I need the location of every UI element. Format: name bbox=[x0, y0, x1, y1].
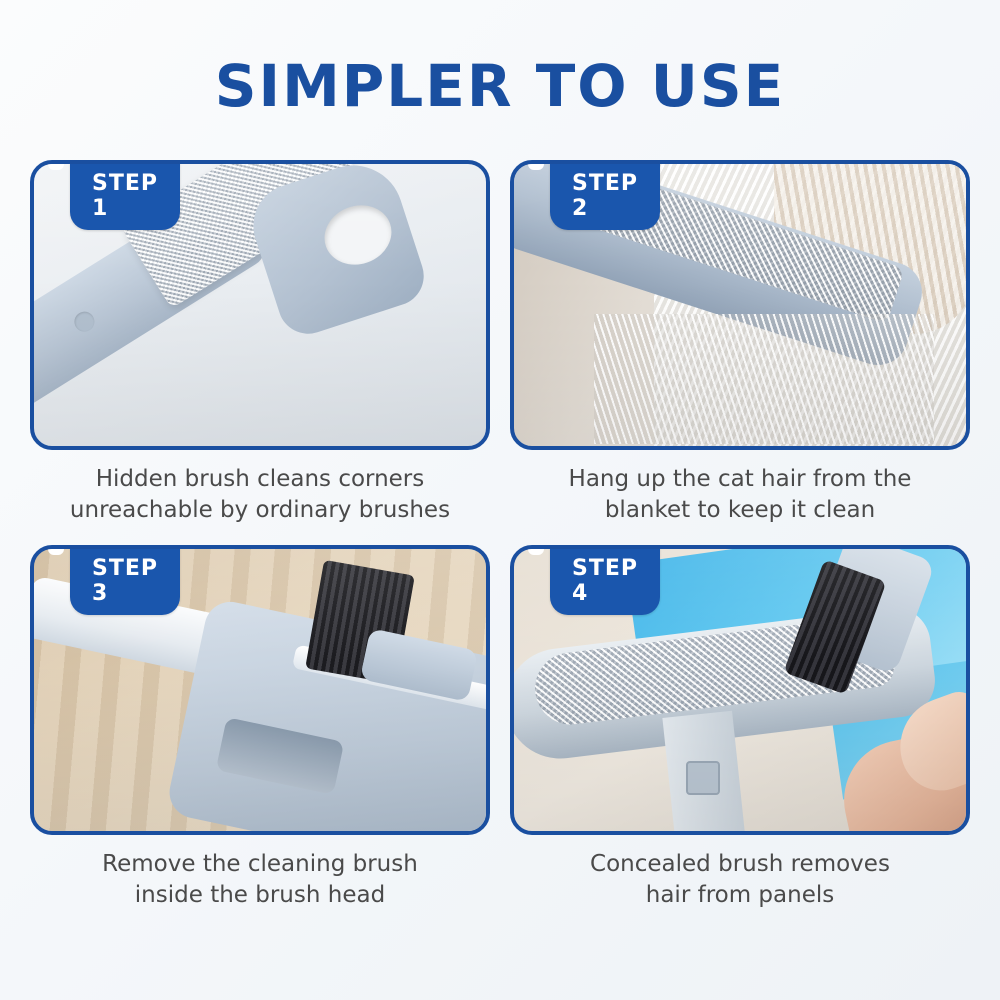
step-4-caption-line-2: hair from panels bbox=[510, 880, 970, 911]
step-card-4: STEP 4 Concealed brush removes hair from… bbox=[510, 545, 970, 910]
step-3-badge: STEP 3 bbox=[70, 547, 180, 615]
step-4-photo: STEP 4 bbox=[510, 545, 970, 835]
step-4-caption: Concealed brush removes hair from panels bbox=[510, 849, 970, 910]
step-4-caption-line-1: Concealed brush removes bbox=[510, 849, 970, 880]
step-1-caption-line-1: Hidden brush cleans corners bbox=[30, 464, 490, 495]
step-3-photo: STEP 3 bbox=[30, 545, 490, 835]
step-2-caption: Hang up the cat hair from the blanket to… bbox=[510, 464, 970, 525]
step-card-2: STEP 2 Hang up the cat hair from the bla… bbox=[510, 160, 970, 525]
step-1-photo: STEP 1 bbox=[30, 160, 490, 450]
step-4-badge-wrap: STEP 4 bbox=[528, 549, 544, 555]
step-1-badge: STEP 1 bbox=[70, 162, 180, 230]
page-title: SIMPLER TO USE bbox=[0, 52, 1000, 120]
step-card-3: STEP 3 Remove the cleaning brush inside … bbox=[30, 545, 490, 910]
step-1-caption-line-2: unreachable by ordinary brushes bbox=[30, 495, 490, 526]
step-2-photo: STEP 2 bbox=[510, 160, 970, 450]
step-3-caption-line-2: inside the brush head bbox=[30, 880, 490, 911]
promo-page: SIMPLER TO USE STEP 1 Hidden brush clean… bbox=[0, 0, 1000, 1000]
steps-grid: STEP 1 Hidden brush cleans corners unrea… bbox=[30, 160, 970, 910]
step-2-caption-line-1: Hang up the cat hair from the bbox=[510, 464, 970, 495]
step-2-caption-line-2: blanket to keep it clean bbox=[510, 495, 970, 526]
handle-release-button-icon bbox=[686, 761, 720, 795]
handle-button-icon bbox=[71, 308, 99, 336]
step-1-caption: Hidden brush cleans corners unreachable … bbox=[30, 464, 490, 525]
step-3-caption: Remove the cleaning brush inside the bru… bbox=[30, 849, 490, 910]
step-4-badge: STEP 4 bbox=[550, 547, 660, 615]
step-1-badge-wrap: STEP 1 bbox=[48, 164, 64, 170]
lifted-hair-shape bbox=[594, 314, 934, 444]
step-3-caption-line-1: Remove the cleaning brush bbox=[30, 849, 490, 880]
step-card-1: STEP 1 Hidden brush cleans corners unrea… bbox=[30, 160, 490, 525]
step-2-badge: STEP 2 bbox=[550, 162, 660, 230]
